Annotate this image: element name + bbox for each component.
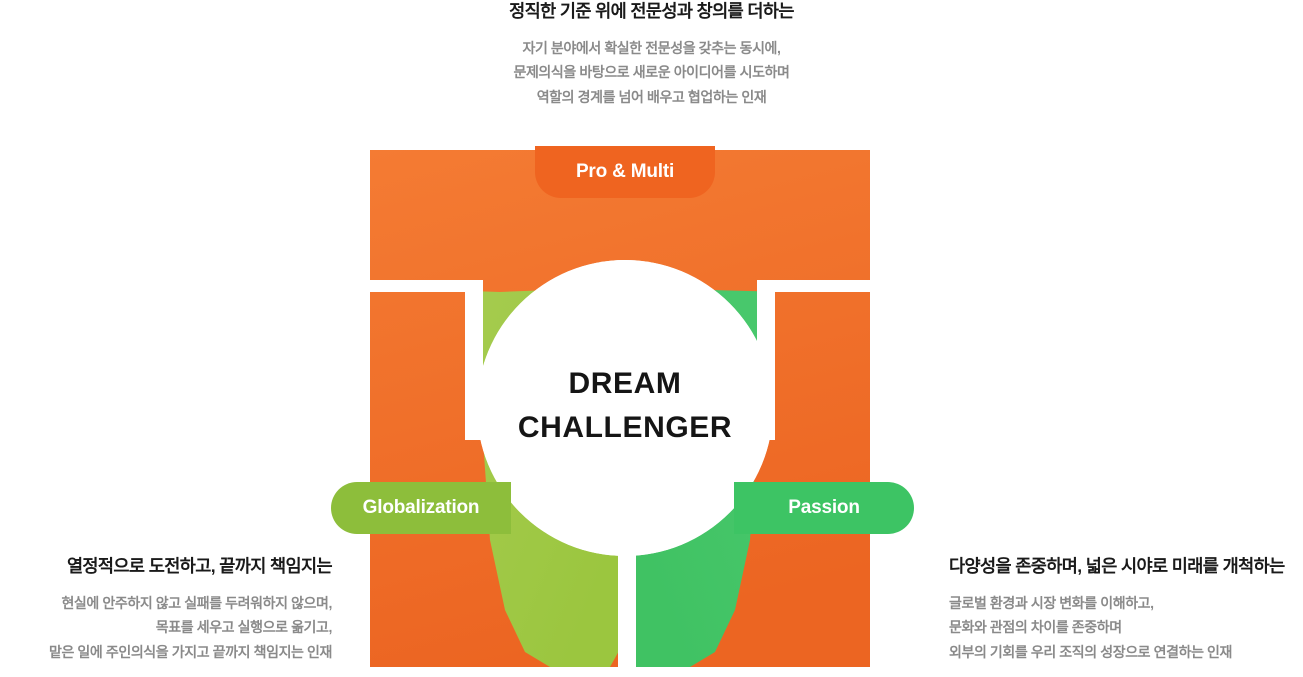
- top-body: 자기 분야에서 확실한 전문성을 갖추는 동시에, 문제의식을 바탕으로 새로운…: [0, 36, 1303, 109]
- pill-globalization[interactable]: Globalization: [331, 482, 511, 534]
- pill-passion[interactable]: Passion: [734, 482, 914, 534]
- top-heading: 정직한 기준 위에 전문성과 창의를 더하는: [0, 1, 1303, 22]
- pill-passion-label: Passion: [788, 497, 859, 519]
- top-description-block: 정직한 기준 위에 전문성과 창의를 더하는 자기 분야에서 확실한 전문성을 …: [0, 0, 1303, 109]
- diagram-svg: [350, 140, 890, 677]
- top-body-line-1: 자기 분야에서 확실한 전문성을 갖추는 동시에,: [0, 36, 1303, 60]
- right-body: 글로벌 환경과 시장 변화를 이해하고, 문화와 관점의 차이를 존중하며 외부…: [949, 591, 1303, 664]
- right-body-line-1: 글로벌 환경과 시장 변화를 이해하고,: [949, 591, 1303, 615]
- left-body-line-2: 목표를 세우고 실행으로 옮기고,: [0, 615, 332, 639]
- top-body-line-2: 문제의식을 바탕으로 새로운 아이디어를 시도하며: [0, 60, 1303, 84]
- left-body-line-1: 현실에 안주하지 않고 실패를 두려워하지 않으며,: [0, 591, 332, 615]
- pill-pro-multi-label: Pro & Multi: [576, 161, 674, 183]
- pill-pro-multi[interactable]: Pro & Multi: [535, 146, 715, 198]
- dream-challenger-diagram: [350, 140, 890, 677]
- center-circle: [477, 260, 773, 556]
- left-description-block: 열정적으로 도전하고, 끝까지 책임지는 현실에 안주하지 않고 실패를 두려워…: [0, 556, 332, 664]
- left-heading: 열정적으로 도전하고, 끝까지 책임지는: [0, 556, 332, 577]
- right-heading: 다양성을 존중하며, 넓은 시야로 미래를 개척하는: [949, 556, 1303, 577]
- top-body-line-3: 역할의 경계를 넘어 배우고 협업하는 인재: [0, 85, 1303, 109]
- right-body-line-3: 외부의 기회를 우리 조직의 성장으로 연결하는 인재: [949, 640, 1303, 664]
- right-body-line-2: 문화와 관점의 차이를 존중하며: [949, 615, 1303, 639]
- left-body: 현실에 안주하지 않고 실패를 두려워하지 않으며, 목표를 세우고 실행으로 …: [0, 591, 332, 664]
- left-body-line-3: 맡은 일에 주인의식을 가지고 끝까지 책임지는 인재: [0, 640, 332, 664]
- right-description-block: 다양성을 존중하며, 넓은 시야로 미래를 개척하는 글로벌 환경과 시장 변화…: [949, 556, 1303, 664]
- pill-globalization-label: Globalization: [363, 497, 480, 519]
